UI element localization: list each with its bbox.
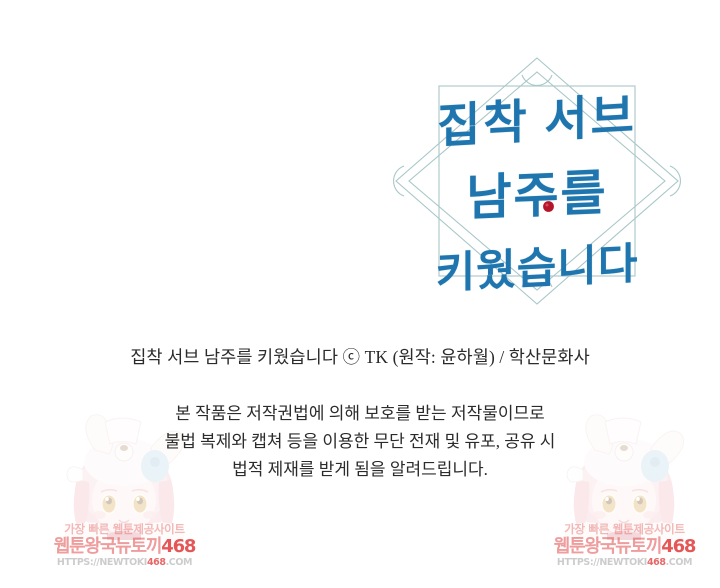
watermark-brand-number: 468 xyxy=(161,536,195,557)
watermark-brand: 웹툰왕국뉴토끼468 xyxy=(547,538,702,556)
watermark-url: HTTPS://NEWTOKI468.COM xyxy=(547,558,702,568)
watermark-url-prefix: HTTPS://NEWTOKI xyxy=(557,557,647,568)
watermark-brand-number: 468 xyxy=(661,536,695,557)
watermark-tagline: 가장 빠른 웹툰제공사이트 xyxy=(47,524,202,536)
watermark-url-suffix: .COM xyxy=(166,557,193,568)
gem-icon xyxy=(542,200,555,213)
watermark-url-suffix: .COM xyxy=(666,557,693,568)
title-line-3: 키웠습니다 xyxy=(382,226,692,303)
watermark-brand: 웹툰왕국뉴토끼468 xyxy=(47,538,202,556)
legal-notice-line-2: 불법 복제와 캡쳐 등을 이용한 무단 전재 및 유포, 공유 시 xyxy=(0,428,720,456)
copyright-line: 집착 서브 남주를 키웠습니다 ⓒ TK (원작: 윤하월) / 학산문화사 xyxy=(0,344,720,369)
watermark-brand-text: 웹툰왕국뉴토끼 xyxy=(554,536,662,557)
legal-notice-line-3: 법적 제재를 받게 됨을 알려드립니다. xyxy=(0,456,720,484)
watermark-text-block: 가장 빠른 웹툰제공사이트 웹툰왕국뉴토끼468 HTTPS://NEWTOKI… xyxy=(547,524,702,567)
title-wordmark: 집착 서브 남주를 키웠습니다 xyxy=(382,52,692,310)
watermark-url: HTTPS://NEWTOKI468.COM xyxy=(47,558,202,568)
watermark-url-prefix: HTTPS://NEWTOKI xyxy=(57,557,147,568)
legal-notice-paragraph: 본 작품은 저작권법에 의해 보호를 받는 저작물이므로 불법 복제와 캡쳐 등… xyxy=(0,400,720,484)
title-line-1: 집착 서브 xyxy=(382,73,692,159)
title-logo: 집착 서브 남주를 키웠습니다 xyxy=(382,52,692,310)
watermark-text-block: 가장 빠른 웹툰제공사이트 웹툰왕국뉴토끼468 HTTPS://NEWTOKI… xyxy=(47,524,202,567)
watermark-url-number: 468 xyxy=(647,557,666,568)
watermark-tagline: 가장 빠른 웹툰제공사이트 xyxy=(547,524,702,536)
watermark-url-number: 468 xyxy=(147,557,166,568)
legal-notice-line-1: 본 작품은 저작권법에 의해 보호를 받는 저작물이므로 xyxy=(0,400,720,428)
title-line-2: 남주를 xyxy=(382,150,692,234)
watermark-brand-text: 웹툰왕국뉴토끼 xyxy=(54,536,162,557)
